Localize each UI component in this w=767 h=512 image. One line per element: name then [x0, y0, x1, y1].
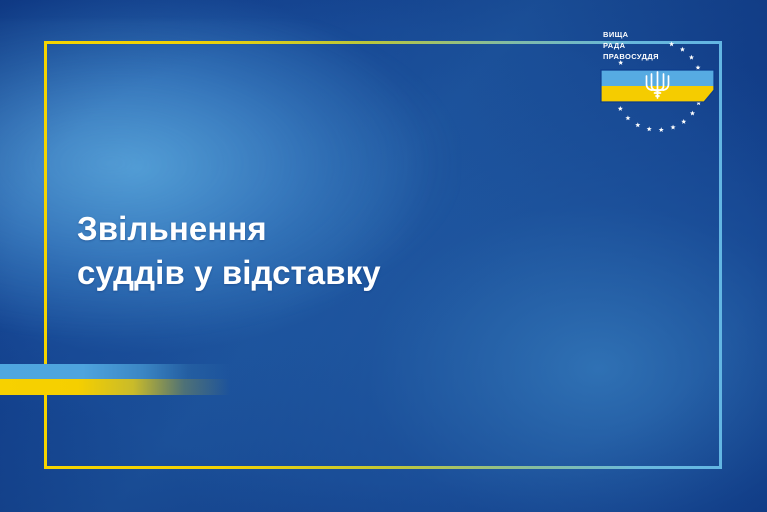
flag-trident-stars-icon	[596, 24, 726, 136]
star-icon	[695, 65, 700, 70]
star-icon	[635, 122, 640, 127]
organization-logo: ВИЩА РАДА ПРАВОСУДДЯ	[596, 24, 726, 136]
star-icon	[618, 60, 623, 65]
star-icon	[680, 47, 685, 52]
flag-ribbon-yellow-stripe	[0, 379, 230, 395]
star-icon	[625, 115, 630, 120]
slide-title: Звільнення суддів у відставку	[77, 207, 597, 295]
star-icon	[647, 126, 652, 131]
star-icon	[670, 125, 675, 130]
slide-title-line-2: суддів у відставку	[77, 251, 597, 295]
slide-title-line-1: Звільнення	[77, 207, 597, 251]
star-icon	[618, 106, 623, 111]
flag-ribbon-blue-stripe	[0, 364, 230, 379]
presentation-slide: Звільнення суддів у відставку ВИЩА РАДА …	[0, 0, 767, 512]
star-icon	[669, 41, 674, 46]
star-icon	[659, 127, 664, 132]
star-icon	[681, 119, 686, 124]
star-icon	[689, 55, 694, 60]
star-icon	[690, 111, 695, 116]
